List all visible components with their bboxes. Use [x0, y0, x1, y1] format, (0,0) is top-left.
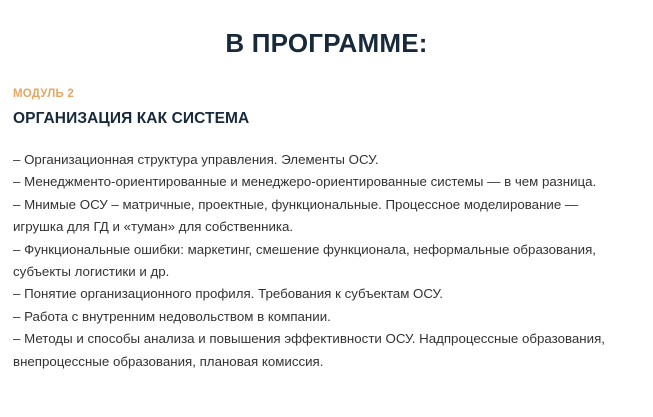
module-topic-list: – Организационная структура управления. …: [13, 149, 629, 373]
page-title: В ПРОГРАММЕ:: [0, 29, 653, 58]
list-item: – Понятие организационного профиля. Треб…: [13, 283, 629, 305]
list-item: – Функциональные ошибки: маркетинг, смеш…: [13, 239, 629, 284]
list-item: – Менеджменто-ориентированные и менеджер…: [13, 171, 629, 193]
module-heading: ОРГАНИЗАЦИЯ КАК СИСТЕМА: [13, 110, 633, 129]
module-kicker-label: МОДУЛЬ 2: [13, 88, 633, 102]
slide-page: В ПРОГРАММЕ: МОДУЛЬ 2 ОРГАНИЗАЦИЯ КАК СИ…: [0, 0, 653, 417]
list-item: – Методы и способы анализа и повышения э…: [13, 328, 629, 373]
list-item: – Работа с внутренним недовольством в ко…: [13, 306, 629, 328]
list-item: – Мнимые ОСУ – матричные, проектные, фун…: [13, 194, 629, 239]
list-item: – Организационная структура управления. …: [13, 149, 629, 171]
module-block: МОДУЛЬ 2 ОРГАНИЗАЦИЯ КАК СИСТЕМА: [13, 88, 633, 128]
